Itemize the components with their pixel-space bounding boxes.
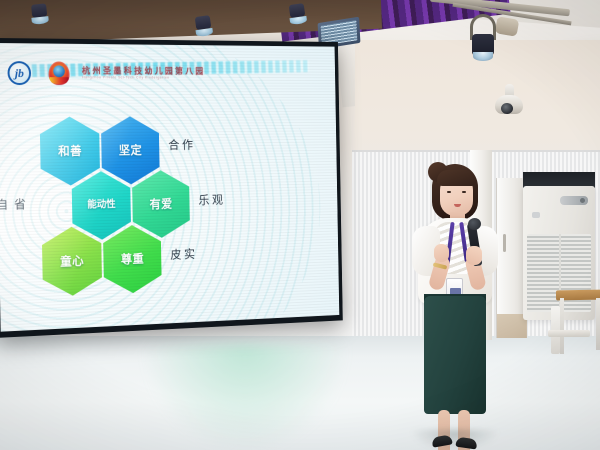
hexagon-nengdongxing: 能动性 [71, 171, 131, 241]
school-name-block: 杭州圣墨科技幼儿园第八园 Hangzhou Private Sci-Tech C… [82, 67, 206, 80]
stage-spotlight-icon [31, 3, 49, 25]
stage-spotlight-icon [195, 15, 214, 37]
presenter-hand-left [434, 244, 449, 262]
hexagon-tongxin: 童心 [42, 226, 103, 297]
camera-lens [501, 103, 513, 114]
hexagon-label: 尊重 [121, 253, 145, 266]
presenter-hand-right [466, 246, 482, 265]
diagram-label-zixing: 自省 [0, 198, 32, 211]
hexagon-heshan: 和善 [40, 116, 101, 186]
slide-header: jb 杭州圣墨科技幼儿园第八园 Hangzhou Private Sci-Tec… [5, 55, 305, 91]
hexagon-label: 童心 [60, 255, 84, 268]
hexagon-label: 坚定 [119, 144, 143, 157]
chair-seat [548, 330, 590, 337]
hexagon-jianding: 坚定 [101, 116, 160, 185]
truss-motor [495, 16, 520, 37]
hexagon-label: 和善 [58, 145, 82, 158]
diagram-label-pishi: 皮实 [170, 248, 198, 260]
spotlight-lens [473, 52, 493, 61]
stage-spotlight-icon [289, 3, 308, 25]
table-leg [560, 298, 564, 354]
presenter-eye-right [462, 191, 466, 193]
air-conditioner-button[interactable] [532, 212, 540, 218]
hexagon-zunzhong: 尊重 [103, 224, 162, 294]
presenter [396, 160, 512, 450]
diagram-label-hezuo: 合作 [168, 139, 196, 151]
air-conditioner-display [560, 196, 588, 205]
hexagon-label: 有爱 [150, 198, 173, 211]
jb-monogram-logo-icon: jb [7, 61, 31, 85]
school-crest-icon [48, 61, 70, 85]
school-name-en: Hangzhou Private Sci-Tech City Kindergar… [82, 76, 205, 80]
presenter-floor-shadow [410, 430, 500, 450]
presentation-scene: jb 杭州圣墨科技幼儿园第八园 Hangzhou Private Sci-Tec… [0, 0, 600, 450]
presenter-skirt [424, 296, 486, 414]
hexagon-label: 能动性 [87, 200, 116, 211]
security-camera-icon [494, 84, 524, 118]
honeycomb-diagram: 和善 坚定 能动性 有爱 童心 尊重 自省 合作 乐 [8, 114, 315, 325]
led-screen-bezel: jb 杭州圣墨科技幼儿园第八园 Hangzhou Private Sci-Tec… [0, 38, 343, 338]
diagram-label-leguan: 乐观 [198, 194, 225, 206]
floor-screen-reflection [145, 344, 345, 450]
presenter-eye-left [447, 191, 451, 193]
led-screen-display[interactable]: jb 杭州圣墨科技幼儿园第八园 Hangzhou Private Sci-Tec… [0, 43, 339, 332]
table-leg [596, 298, 600, 350]
moving-head-spotlight-icon [468, 14, 498, 60]
hexagon-youai: 有爱 [132, 170, 190, 239]
presenter-fringe [437, 170, 476, 186]
